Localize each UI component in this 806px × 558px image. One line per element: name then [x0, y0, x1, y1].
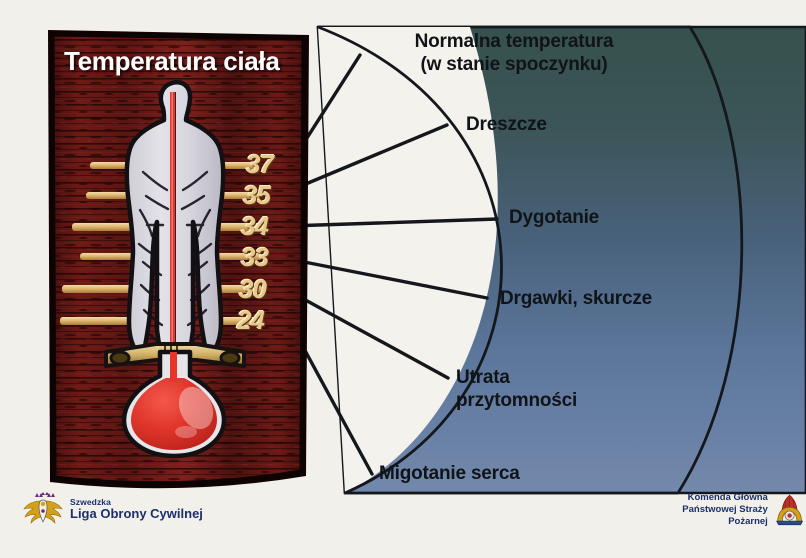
fire-service-emblem-icon: [773, 493, 806, 527]
scale-number-24: 24: [237, 305, 264, 336]
scale-number-37: 37: [246, 149, 273, 180]
eagle-emblem-icon: [22, 492, 64, 526]
poster-canvas: Temperatura ciała 37 35 34 33 30 24 Norm…: [0, 0, 806, 558]
scale-number-33: 33: [241, 242, 268, 273]
scale-number-34: 34: [241, 211, 268, 242]
page-title: Temperatura ciała: [64, 46, 304, 77]
fan-label-utrata-przytomnosci: Utrata przytomności: [456, 366, 577, 412]
fan-label-normal-temperature: Normalna temperatura (w stanie spoczynku…: [383, 30, 645, 76]
fan-label-drgawki-skurcze: Drgawki, skurcze: [500, 287, 652, 310]
scale-number-35: 35: [243, 180, 270, 211]
fan-label-dygotanie: Dygotanie: [509, 206, 599, 229]
logo-szwedzka-liga: Szwedzka Liga Obrony Cywilnej: [22, 492, 203, 526]
scale-number-30: 30: [239, 274, 266, 305]
logo-right-text: Komenda Główna Państwowej Straży Pożarne…: [650, 492, 768, 528]
logo-left-line2: Liga Obrony Cywilnej: [70, 507, 203, 521]
fan-label-migotanie-serca: Migotanie serca: [379, 462, 520, 485]
logo-komenda-glowna: Komenda Główna Państwowej Straży Pożarne…: [650, 492, 806, 528]
fan-label-dreszcze: Dreszcze: [466, 113, 547, 136]
logo-left-text: Szwedzka Liga Obrony Cywilnej: [70, 498, 203, 521]
temperature-fan-shape: [318, 27, 806, 493]
